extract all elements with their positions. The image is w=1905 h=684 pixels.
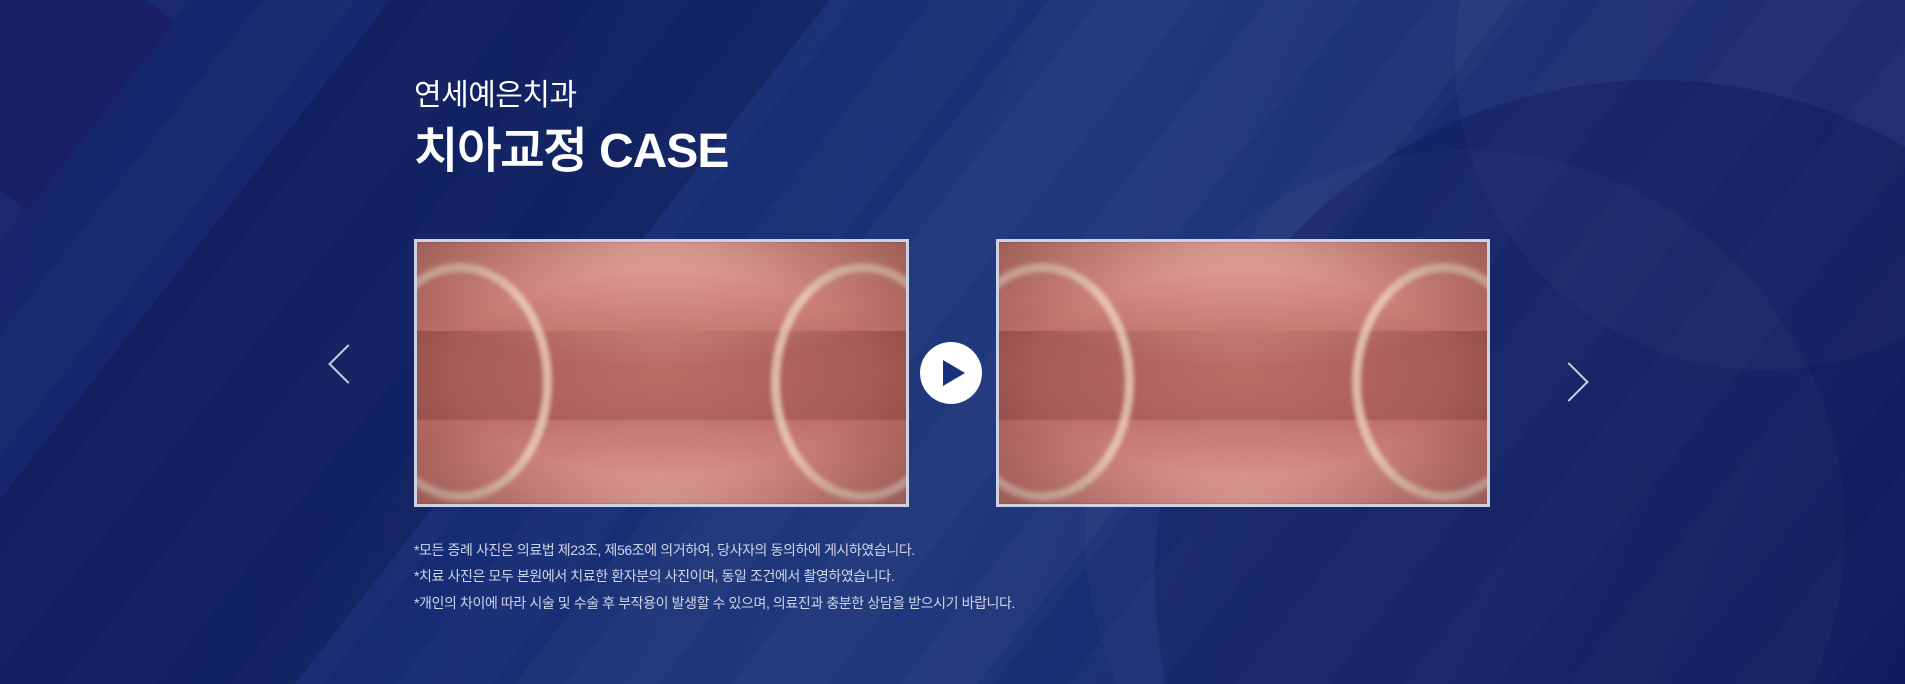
photo-vignette: [999, 242, 1487, 504]
photo-vignette: [417, 242, 906, 504]
page-title-group: 연세예은치과 치아교정 CASE: [414, 78, 728, 179]
disclaimer-line-3: *개인의 차이에 따라 시술 및 수술 후 부작용이 발생할 수 있으며, 의료…: [414, 593, 1015, 613]
disclaimer-line-2: *치료 사진은 모두 본원에서 치료한 환자분의 사진이며, 동일 조건에서 촬…: [414, 566, 1015, 586]
disclaimer: *모든 증례 사진은 의료법 제23조, 제56조에 의거하여, 당사자의 동의…: [414, 540, 1015, 619]
clinic-name: 연세예은치과: [414, 78, 728, 114]
carousel-prev-button[interactable]: [324, 340, 368, 404]
carousel-next-button[interactable]: [1545, 358, 1589, 422]
chevron-right-icon: [1549, 362, 1589, 402]
page-title: 치아교정 CASE: [414, 124, 728, 179]
play-icon: [943, 360, 965, 386]
after-mouth-image: [999, 242, 1487, 504]
top-left-corner-shape: [0, 0, 174, 211]
before-mouth-image: [417, 242, 906, 504]
case-photo-before[interactable]: [414, 239, 909, 507]
case-photo-after[interactable]: [996, 239, 1490, 507]
chevron-left-icon: [328, 344, 368, 384]
disclaimer-line-1: *모든 증례 사진은 의료법 제23조, 제56조에 의거하여, 당사자의 동의…: [414, 540, 1015, 560]
play-button[interactable]: [920, 342, 982, 404]
orthodontics-case-banner: 연세예은치과 치아교정 CASE: [0, 0, 1905, 684]
